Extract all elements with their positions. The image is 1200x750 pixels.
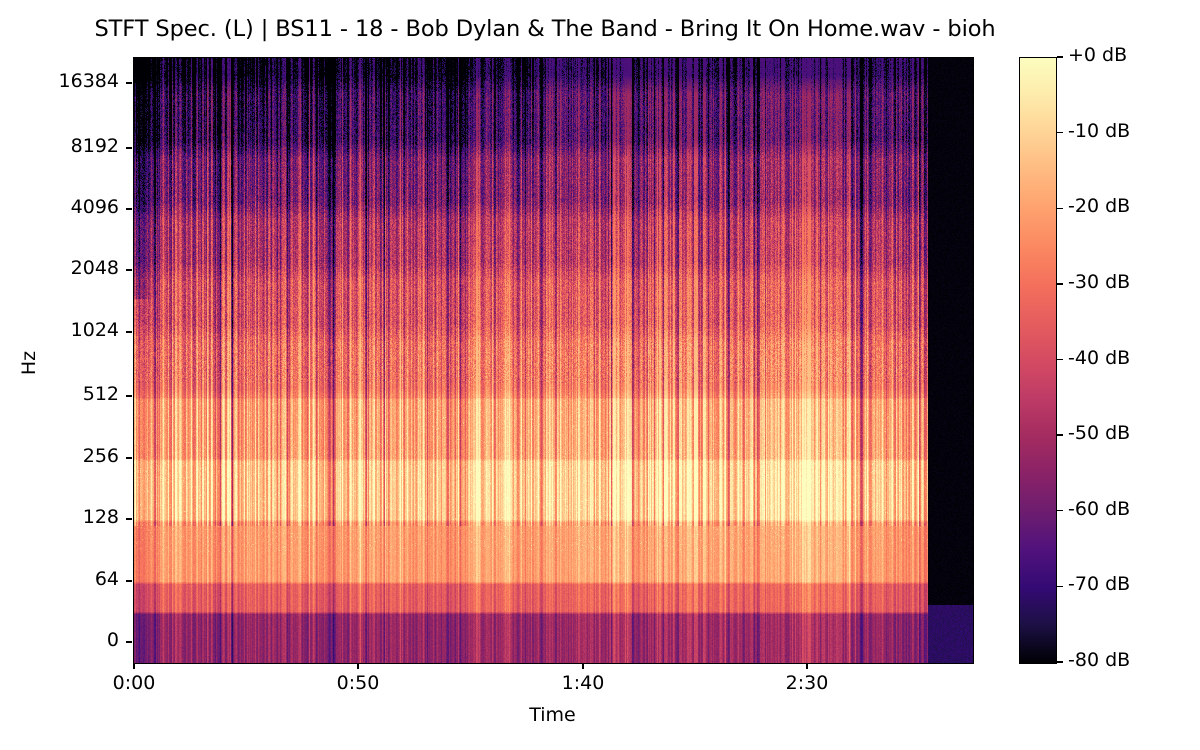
- colorbar-tick-mark: [1057, 208, 1063, 209]
- colorbar-tick-label: -70 dB: [1068, 573, 1130, 595]
- y-tick-label: 128: [0, 506, 119, 528]
- spectrogram-image: [134, 58, 973, 663]
- y-tick-mark: [126, 82, 132, 83]
- y-tick-label: 16384: [0, 70, 119, 92]
- colorbar-tick-mark: [1057, 56, 1063, 57]
- colorbar-tick-label: -80 dB: [1068, 649, 1130, 671]
- colorbar-tick-mark: [1057, 586, 1063, 587]
- colorbar-tick-label: +0 dB: [1068, 44, 1127, 66]
- colorbar-tick-mark: [1057, 434, 1063, 435]
- colorbar-gradient: [1019, 57, 1057, 664]
- y-tick-mark: [126, 331, 132, 332]
- y-tick-mark: [126, 269, 132, 270]
- colorbar-tick-label: -60 dB: [1068, 498, 1130, 520]
- y-axis-label: Hz: [18, 328, 40, 398]
- colorbar-tick-label: -10 dB: [1068, 120, 1130, 142]
- x-tick-mark: [357, 663, 358, 669]
- colorbar-tick-label: -20 dB: [1068, 195, 1130, 217]
- page-title: STFT Spec. (L) | BS11 - 18 - Bob Dylan &…: [0, 16, 1090, 42]
- colorbar-tick-label: -50 dB: [1068, 422, 1130, 444]
- y-tick-mark: [126, 395, 132, 396]
- y-tick-mark: [126, 147, 132, 148]
- spectrogram-figure: STFT Spec. (L) | BS11 - 18 - Bob Dylan &…: [0, 0, 1200, 750]
- x-tick-label: 2:30: [762, 672, 852, 694]
- colorbar-tick-label: -30 dB: [1068, 271, 1130, 293]
- y-tick-mark: [126, 518, 132, 519]
- y-tick-label: 64: [0, 568, 119, 590]
- y-tick-mark: [126, 457, 132, 458]
- x-tick-mark: [133, 663, 134, 669]
- y-tick-label: 4096: [0, 196, 119, 218]
- x-tick-label: 1:40: [538, 672, 628, 694]
- colorbar-tick-mark: [1057, 283, 1063, 284]
- x-tick-mark: [806, 663, 807, 669]
- colorbar-tick-label: -40 dB: [1068, 347, 1130, 369]
- y-tick-mark: [126, 580, 132, 581]
- y-tick-label: 8192: [0, 135, 119, 157]
- x-tick-mark: [582, 663, 583, 669]
- colorbar-tick-mark: [1057, 661, 1063, 662]
- y-tick-label: 0: [0, 629, 119, 651]
- y-tick-label: 256: [0, 445, 119, 467]
- y-tick-mark: [126, 641, 132, 642]
- y-tick-label: 2048: [0, 257, 119, 279]
- spectrogram-plot-area: [133, 57, 974, 664]
- colorbar-tick-mark: [1057, 359, 1063, 360]
- x-axis-label: Time: [133, 704, 972, 726]
- x-tick-label: 0:00: [89, 672, 179, 694]
- x-tick-label: 0:50: [313, 672, 403, 694]
- colorbar-tick-mark: [1057, 510, 1063, 511]
- y-tick-mark: [126, 208, 132, 209]
- colorbar-tick-mark: [1057, 132, 1063, 133]
